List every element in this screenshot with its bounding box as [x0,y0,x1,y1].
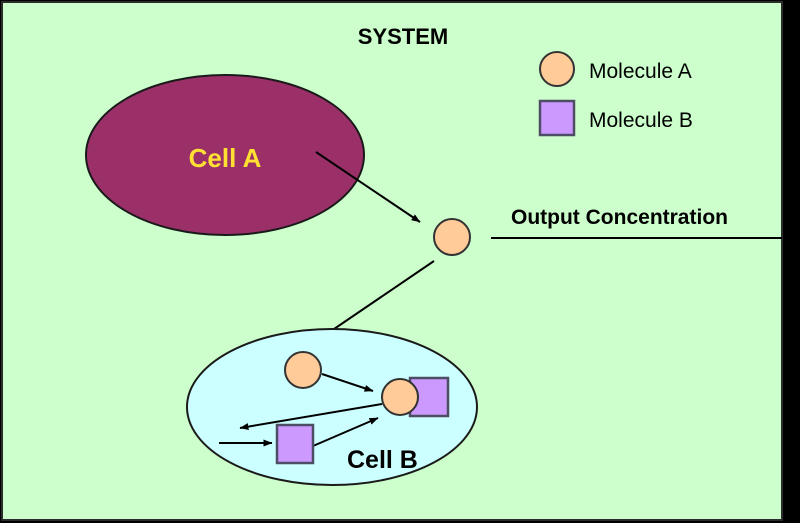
legend-swatch-molecule-b-icon [540,101,574,135]
system-diagram: SYSTEM Molecule A Molecule B Cell A Outp… [0,0,800,523]
cell-b-label: Cell B [347,446,418,474]
legend-swatch-molecule-a-icon [540,52,574,86]
cell-a-label: Cell A [189,143,262,173]
molecule-b-free [277,425,313,463]
legend-label-molecule-a: Molecule A [589,60,692,83]
molecule-a-output [434,219,470,255]
molecule-a-bound [382,379,418,415]
molecule-a-received [285,352,321,388]
legend-label-molecule-b: Molecule B [589,109,693,132]
diagram-canvas: SYSTEM Molecule A Molecule B Cell A Outp… [0,0,800,523]
output-concentration-label: Output Concentration [511,206,728,229]
page-title: SYSTEM [358,24,448,49]
